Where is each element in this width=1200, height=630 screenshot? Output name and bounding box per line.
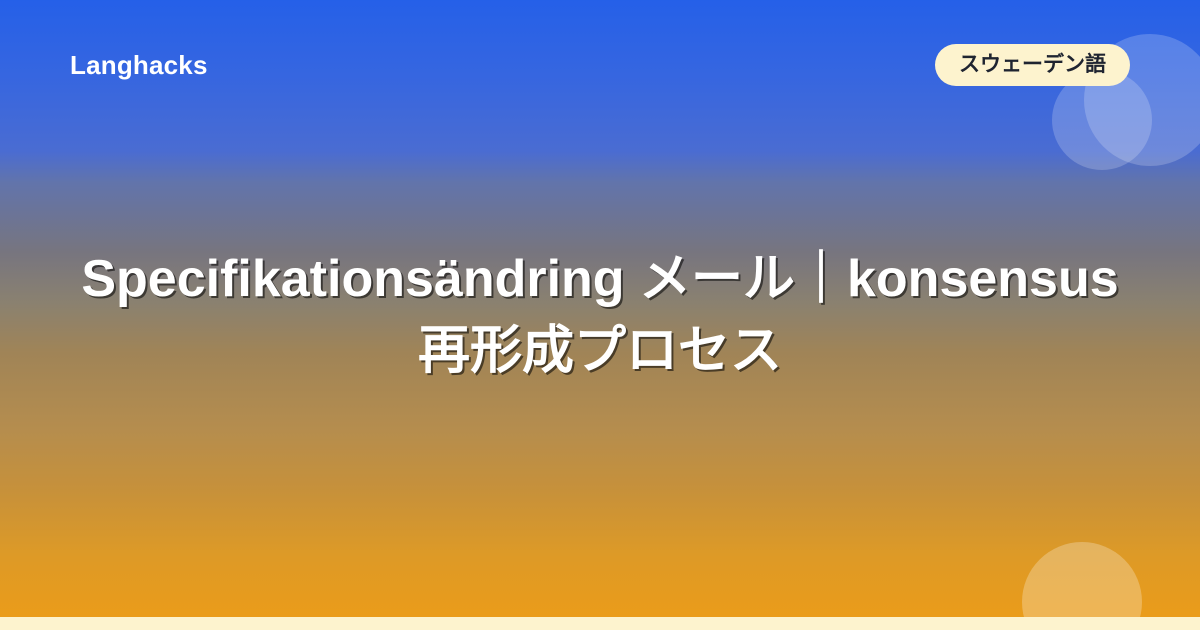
page-title: Specifikationsändring メール｜konsensus再形成プロ… [70, 243, 1130, 387]
language-badge: スウェーデン語 [935, 44, 1130, 86]
social-share-card: Langhacks スウェーデン語 Specifikationsändring … [0, 0, 1200, 630]
bottom-accent-strip [0, 617, 1200, 630]
card-header: Langhacks スウェーデン語 [0, 0, 1200, 140]
brand-logo-text: Langhacks [70, 52, 208, 78]
